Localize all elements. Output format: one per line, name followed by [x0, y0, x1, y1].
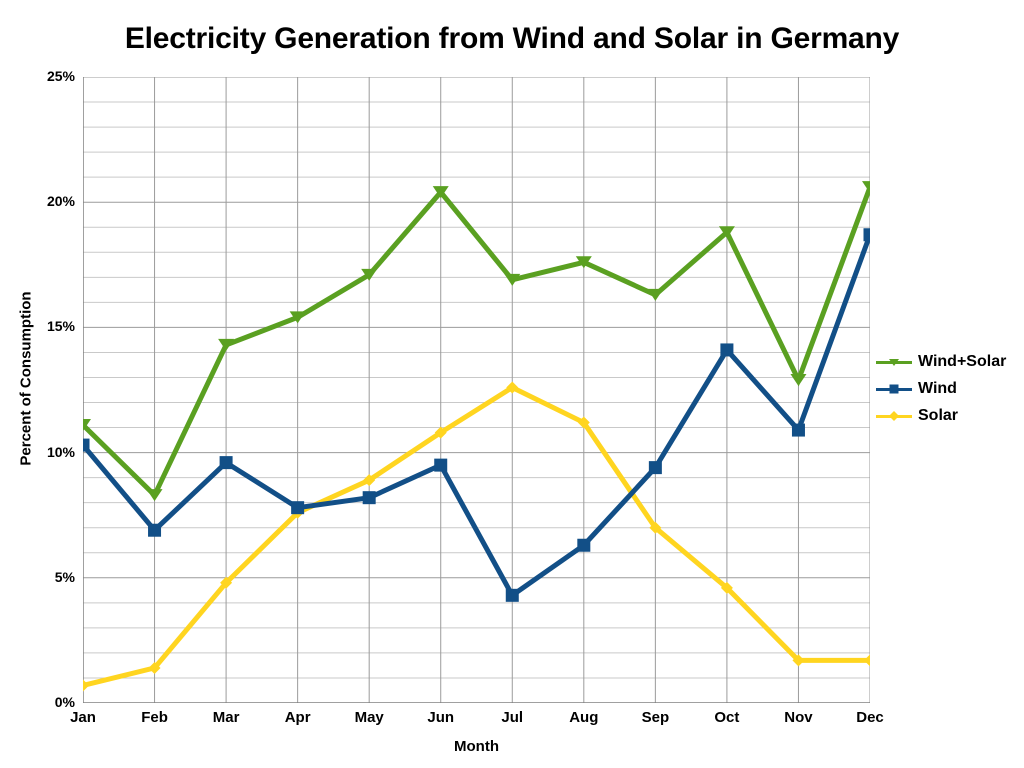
square-marker-icon — [889, 384, 899, 394]
legend-swatch — [876, 407, 912, 425]
y-tick-label: 20% — [0, 193, 75, 209]
legend-item-solar[interactable]: Solar — [876, 402, 1024, 429]
legend-swatch — [876, 353, 912, 371]
y-tick-label: 5% — [0, 569, 75, 585]
y-tick-label: 10% — [0, 444, 75, 460]
legend-swatch — [876, 380, 912, 398]
legend-item-wind-solar[interactable]: Wind+Solar — [876, 348, 1024, 375]
legend-item-wind[interactable]: Wind — [876, 375, 1024, 402]
x-axis-title: Month — [83, 738, 870, 755]
legend-label: Wind — [912, 380, 957, 398]
chart-title: Electricity Generation from Wind and Sol… — [0, 22, 1024, 56]
legend-label: Wind+Solar — [912, 353, 1006, 371]
triangle-down-marker-icon — [889, 357, 899, 367]
series-lines — [83, 77, 870, 703]
legend-label: Solar — [912, 407, 958, 425]
chart-legend: Wind+SolarWindSolar — [876, 348, 1024, 429]
y-tick-label: 0% — [0, 694, 75, 710]
x-tick-label-dec: Dec — [825, 709, 915, 726]
diamond-marker-icon — [889, 411, 899, 421]
plot-area — [83, 77, 870, 703]
y-tick-label: 25% — [0, 68, 75, 84]
series-wind-solar — [83, 181, 870, 501]
y-tick-label: 15% — [0, 318, 75, 334]
chart-canvas: Electricity Generation from Wind and Sol… — [0, 0, 1024, 768]
